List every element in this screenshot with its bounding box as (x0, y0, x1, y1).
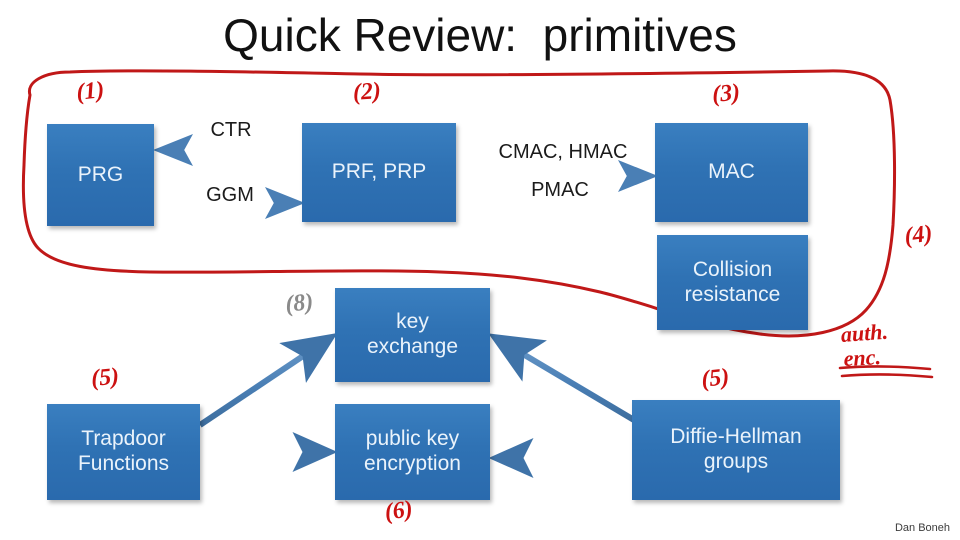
box-collision-resistance[interactable]: Collision resistance (657, 235, 808, 330)
box-diffie-hellman-groups[interactable]: Diffie-Hellman groups (632, 400, 840, 500)
arrow-trapdoor-keyexchange (200, 338, 330, 425)
box-public-key-encryption[interactable]: public key encryption (335, 404, 490, 500)
box-mac-label: MAC (708, 160, 755, 185)
box-diffie-hellman-groups-label: Diffie-Hellman groups (670, 425, 802, 475)
box-mac[interactable]: MAC (655, 123, 808, 222)
annotation-note-1: (1) (75, 77, 106, 107)
slide-canvas: Quick Review: primitives (0, 0, 960, 540)
box-collision-resistance-label: Collision resistance (685, 258, 781, 308)
author-credit: Dan Boneh (895, 522, 950, 534)
annotation-note-6: (6) (383, 496, 414, 527)
box-prf-prp[interactable]: PRF, PRP (302, 123, 456, 222)
annotation-note-2: (2) (352, 78, 382, 107)
edge-label-ctr: CTR (196, 118, 266, 143)
box-prf-prp-label: PRF, PRP (332, 160, 427, 185)
annotation-note-enc: enc. (843, 344, 882, 372)
edge-label-ggm: GGM (190, 183, 270, 208)
arrow-dh-keyexchange (496, 338, 634, 420)
box-key-exchange[interactable]: key exchange (335, 288, 490, 382)
box-prg[interactable]: PRG (47, 124, 154, 226)
edge-label-cmac-hmac: CMAC, HMAC (478, 140, 648, 165)
annotation-note-5-right: (5) (700, 364, 731, 394)
annotation-note-auth: auth. (840, 319, 889, 348)
box-trapdoor-functions[interactable]: Trapdoor Functions (47, 404, 200, 500)
page-title: Quick Review: primitives (0, 8, 960, 62)
box-prg-label: PRG (78, 163, 124, 188)
box-key-exchange-label: key exchange (367, 310, 458, 360)
annotation-note-3: (3) (711, 80, 741, 109)
edge-label-pmac: PMAC (505, 178, 615, 203)
annotation-note-4: (4) (903, 221, 934, 251)
box-trapdoor-functions-label: Trapdoor Functions (78, 427, 169, 477)
annotation-note-5-left: (5) (90, 364, 120, 393)
annotation-note-8: (8) (284, 289, 315, 319)
box-public-key-encryption-label: public key encryption (364, 427, 461, 477)
